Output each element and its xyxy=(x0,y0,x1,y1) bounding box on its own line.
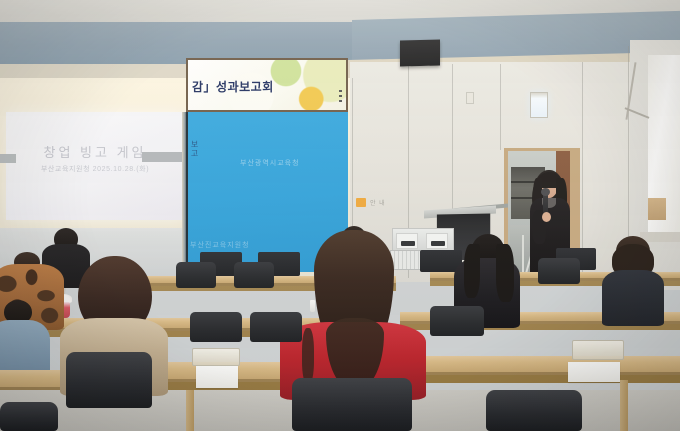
microphone-head xyxy=(541,188,550,196)
attendee-hair-right xyxy=(496,244,514,302)
desk-row-1-right-edge xyxy=(420,375,680,383)
projection-subtitle: 부산교육지원청 2025.10.28.(화) xyxy=(6,164,184,174)
wall-sign-text: 안 내 xyxy=(370,198,386,207)
chair[interactable] xyxy=(66,352,152,408)
wall-light-icon xyxy=(530,92,548,118)
cardboard-box xyxy=(648,198,666,220)
attendee-hair-left xyxy=(464,244,480,298)
paper-sheet xyxy=(568,362,620,382)
chair[interactable] xyxy=(538,258,580,284)
board-lower-text: 부산진교육지원청 xyxy=(190,240,250,250)
plastic-box xyxy=(572,340,624,360)
speaker-icon xyxy=(400,39,440,66)
desk-leg xyxy=(186,390,194,431)
board-center-text: 부산광역시교육청 xyxy=(240,158,300,168)
board-side-text: 보고 xyxy=(189,140,200,158)
equipment-tray xyxy=(426,233,448,249)
attendee-right-edge xyxy=(600,236,666,322)
seminar-room-photo: 창업 빙고 게임 부산교육지원청 2025.10.28.(화) 감」성과보고회 … xyxy=(0,0,680,431)
chair[interactable] xyxy=(430,306,484,336)
presenter-hand xyxy=(542,212,551,222)
attendee-torso xyxy=(602,270,664,326)
banner-text: 감」성과보고회 xyxy=(192,78,274,95)
chair[interactable] xyxy=(250,312,302,342)
banner: 감」성과보고회 xyxy=(188,60,346,110)
chair[interactable] xyxy=(292,378,412,431)
orange-sticker-icon xyxy=(356,198,366,207)
wall-seam xyxy=(500,64,501,150)
plastic-box xyxy=(192,348,240,366)
screen-ledge-left xyxy=(0,154,16,163)
paper-sheet xyxy=(196,366,238,388)
desk-leg xyxy=(620,380,628,431)
chair[interactable] xyxy=(234,262,274,288)
desk-row-1-right xyxy=(420,356,680,375)
banner-frame: 감」성과보고회 xyxy=(186,58,348,112)
attendee-hair-strand xyxy=(302,328,314,384)
projection-screen: 창업 빙고 게임 부산교육지원청 2025.10.28.(화) xyxy=(6,112,184,220)
chair[interactable] xyxy=(486,390,582,431)
wall-switch[interactable] xyxy=(466,92,474,104)
banner-dot-pattern xyxy=(339,90,342,104)
chair[interactable] xyxy=(190,312,242,342)
chair[interactable] xyxy=(176,262,216,288)
attendee-red-jacket xyxy=(280,230,426,396)
chair[interactable] xyxy=(0,402,58,431)
